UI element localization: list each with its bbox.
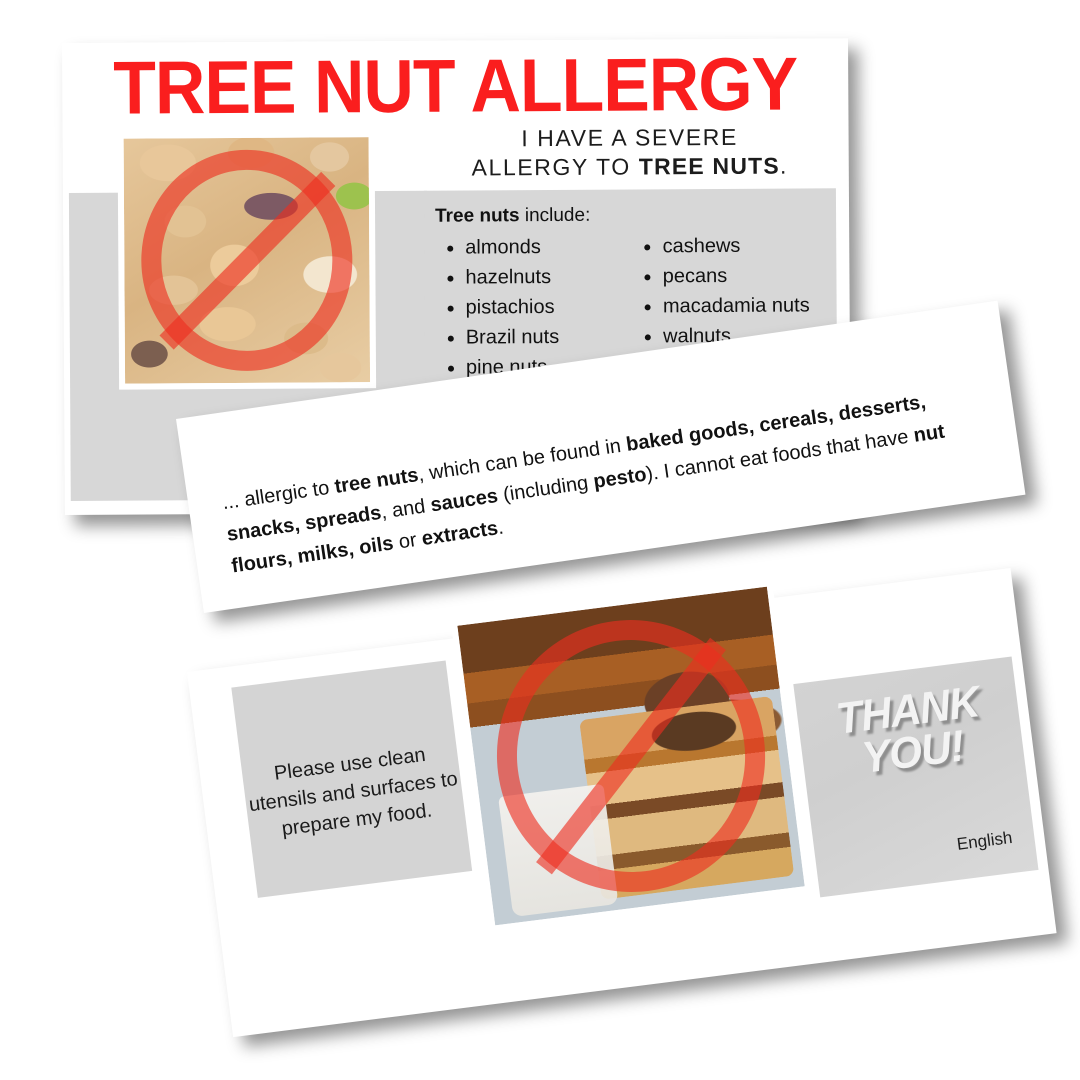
nut-photo [124, 137, 370, 383]
allergy-details-paragraph: ... allergic to tree nuts, which can be … [220, 378, 996, 583]
tree-nuts-list-lead: Tree nuts include: [435, 201, 833, 229]
clean-utensils-panel: Please use clean utensils and surfaces t… [231, 660, 472, 897]
thank-you-panel: THANK YOU! English [793, 657, 1038, 898]
list-item: pecans [663, 260, 834, 291]
nut-photo-frame [118, 131, 377, 390]
list-item: almonds [465, 232, 632, 263]
page-title: TREE NUT ALLERGY [99, 40, 812, 130]
thank-you-text: THANK YOU! [800, 677, 1020, 787]
severe-line-2-strong: TREE NUTS [639, 153, 780, 180]
poster-stage: TREE NUT ALLERGY I HAVE A SEVERE ALLERGY… [0, 0, 1080, 1080]
tree-nuts-lead-rest: include: [519, 205, 590, 226]
prohibition-sign-icon [457, 587, 804, 926]
severe-line-2-suffix: . [780, 153, 788, 179]
list-item: pistachios [466, 292, 633, 323]
prohibition-sign-icon [124, 137, 370, 383]
language-label: English [815, 828, 1014, 873]
severe-line-1: I HAVE A SEVERE [521, 124, 738, 151]
severe-line-2-prefix: ALLERGY TO [472, 153, 639, 180]
list-item: hazelnuts [465, 262, 632, 293]
tree-nuts-lead-strong: Tree nuts [435, 205, 520, 227]
severe-allergy-statement: I HAVE A SEVERE ALLERGY TO TREE NUTS. [424, 122, 836, 183]
list-item: cashews [662, 230, 833, 261]
list-item: macadamia nuts [663, 290, 834, 321]
clean-utensils-note: Please use clean utensils and surfaces t… [241, 737, 466, 847]
preparation-and-thanks-card: Please use clean utensils and surfaces t… [187, 568, 1057, 1037]
food-photo-frame [451, 580, 812, 932]
food-photo [457, 587, 804, 926]
list-item: Brazil nuts [466, 322, 633, 353]
